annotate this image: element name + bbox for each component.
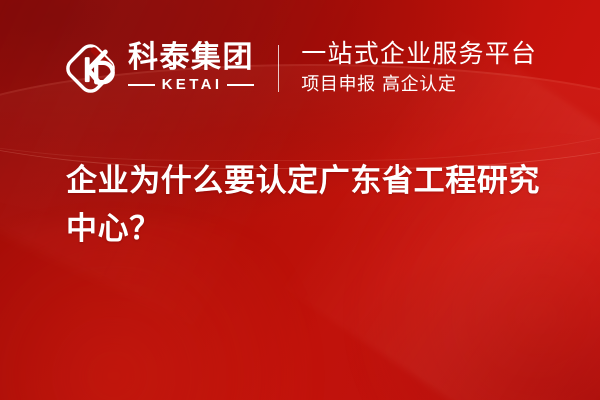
header-tagline: 一站式企业服务平台 项目申报 高企认定 xyxy=(301,40,537,96)
tagline-secondary: 项目申报 高企认定 xyxy=(301,74,537,96)
header-divider xyxy=(278,45,279,92)
wordmark-dash-left xyxy=(128,84,155,87)
banner-header: 科泰集团 KETAI 一站式企业服务平台 项目申报 高企认定 xyxy=(62,33,537,103)
tagline-primary: 一站式企业服务平台 xyxy=(301,40,537,68)
company-name-en: KETAI xyxy=(155,76,228,93)
company-name-cn: 科泰集团 xyxy=(128,43,254,74)
ketai-diamond-kt-monogram-icon xyxy=(62,40,119,97)
company-name-en-row: KETAI xyxy=(128,76,254,93)
promotional-banner: 科泰集团 KETAI 一站式企业服务平台 项目申报 高企认定 企业为什么要认定广… xyxy=(0,0,600,400)
brand-wordmark: 科泰集团 KETAI xyxy=(128,43,254,94)
banner-headline: 企业为什么要认定广东省工程研究中心？ xyxy=(66,157,566,253)
brand-logo: 科泰集团 KETAI xyxy=(62,40,254,97)
wordmark-dash-right xyxy=(227,84,254,87)
